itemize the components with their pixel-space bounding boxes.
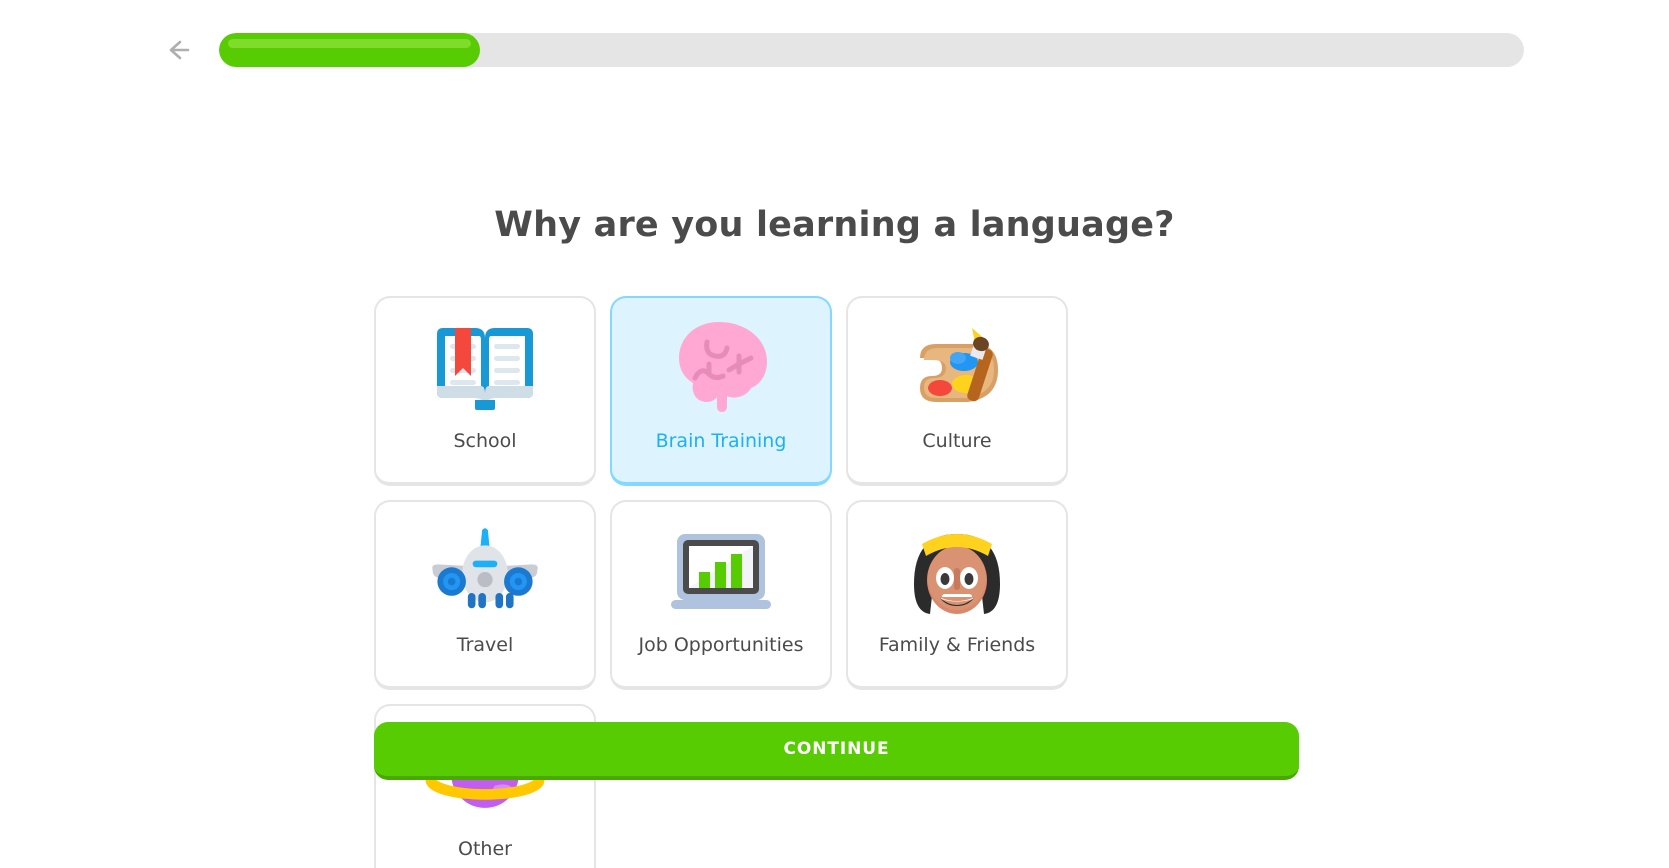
option-label: Travel xyxy=(457,634,513,657)
progress-bar-fill xyxy=(219,33,480,67)
back-arrow-icon xyxy=(168,38,196,62)
progress-header xyxy=(0,30,1669,70)
option-card-brain-training[interactable]: Brain Training xyxy=(610,296,832,486)
option-card-school[interactable]: School xyxy=(374,296,596,486)
option-label: School xyxy=(453,430,516,453)
back-button[interactable] xyxy=(162,30,202,70)
girl-face-icon xyxy=(897,518,1017,626)
airplane-icon xyxy=(425,518,545,626)
option-card-culture[interactable]: Culture xyxy=(846,296,1068,486)
option-grid: School Brain Training Culture xyxy=(374,296,1299,868)
option-card-family-friends[interactable]: Family & Friends xyxy=(846,500,1068,690)
option-label: Culture xyxy=(922,430,991,453)
option-label: Job Opportunities xyxy=(639,634,804,657)
option-card-travel[interactable]: Travel xyxy=(374,500,596,690)
continue-button[interactable]: CONTINUE xyxy=(374,722,1299,780)
palette-icon xyxy=(897,314,1017,422)
onboarding-screen: Why are you learning a language? School xyxy=(0,0,1669,868)
page-title: Why are you learning a language? xyxy=(0,205,1669,245)
option-label: Other xyxy=(458,838,512,861)
option-label: Family & Friends xyxy=(879,634,1035,657)
progress-bar-track xyxy=(219,33,1524,67)
open-book-icon xyxy=(425,314,545,422)
brain-icon xyxy=(661,314,781,422)
progress-bar-highlight xyxy=(228,39,471,48)
laptop-chart-icon xyxy=(661,518,781,626)
option-label: Brain Training xyxy=(656,430,787,453)
option-card-job-opportunities[interactable]: Job Opportunities xyxy=(610,500,832,690)
